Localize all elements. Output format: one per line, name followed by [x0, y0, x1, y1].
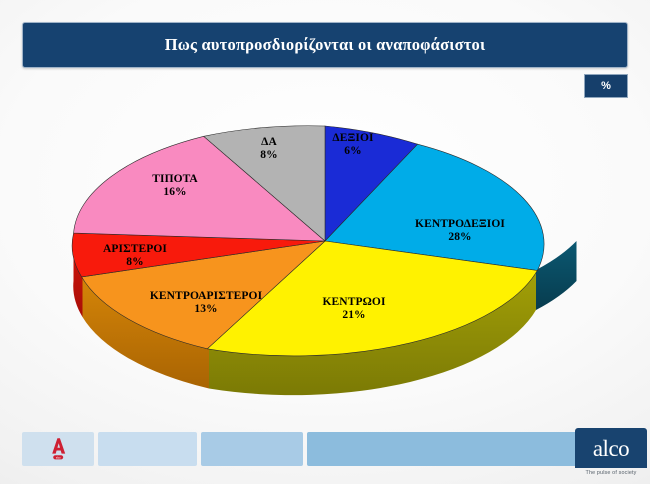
slice-label-aristeroi: ΑΡΙΣΤΕΡΟΙ 8% [82, 229, 188, 283]
slice-label-deksioi: ΔΕΞΙΟΙ 6% [316, 118, 390, 172]
footer-block-3 [201, 432, 303, 466]
slice-label-deksioi-text: ΔΕΞΙΟΙ [332, 132, 373, 144]
slice-label-kentrodeksioi-text: ΚΕΝΤΡΟΔΕΞΙΟΙ [415, 218, 505, 230]
footer-color-strip: alco [22, 432, 628, 466]
slice-label-aristeroi-text: ΑΡΙΣΤΕΡΟΙ [103, 243, 167, 255]
pie-chart: ΔΕΞΙΟΙ 6% ΚΕΝΤΡΟΔΕΞΙΟΙ 28% ΚΕΝΤΡΩΟΙ 21% … [0, 96, 650, 414]
title-banner: Πως αυτοπροσδιορίζονται οι αναποφάσιστοι [22, 22, 628, 68]
unit-badge: % [584, 74, 628, 98]
footer-block-2 [98, 432, 197, 466]
slice-label-da-text: ΔΑ [261, 136, 277, 148]
footer: alco alco The pulse of society [0, 414, 650, 484]
slice-value-kentroaristeroi: 13% [144, 303, 268, 317]
svg-text:alco: alco [56, 455, 61, 459]
slice-value-kentrodeksioi: 28% [398, 231, 522, 245]
slice-label-tipota-text: ΤΙΠΟΤΑ [152, 173, 198, 185]
slice-label-kentrooi-text: ΚΕΝΤΡΩΟΙ [322, 296, 385, 308]
slice-value-tipota: 16% [128, 186, 222, 200]
slice-label-kentrooi: ΚΕΝΤΡΩΟΙ 21% [300, 282, 408, 336]
slice-label-da: ΔΑ 8% [240, 122, 298, 176]
slice-label-kentroaristeroi: ΚΕΝΤΡΟΑΡΙΣΤΕΡΟΙ 13% [144, 276, 268, 330]
alco-logo: alco [575, 428, 647, 468]
alpha-mark-icon: alco [45, 436, 71, 462]
alco-tagline: The pulse of society [575, 470, 647, 476]
unit-badge-label: % [601, 80, 611, 92]
slice-label-tipota: ΤΙΠΟΤΑ 16% [128, 159, 222, 213]
slice-label-kentrodeksioi: ΚΕΝΤΡΟΔΕΞΙΟΙ 28% [398, 204, 522, 258]
slice-value-deksioi: 6% [316, 145, 390, 159]
slide-root: { "slide": { "title": "Πως αυτοπροσδιορί… [0, 0, 650, 484]
slice-label-kentroaristeroi-text: ΚΕΝΤΡΟΑΡΙΣΤΕΡΟΙ [150, 290, 262, 302]
slide-title-bar: Πως αυτοπροσδιορίζονται οι αναποφάσιστοι [22, 22, 628, 68]
footer-mark-block: alco [22, 432, 94, 466]
slice-value-aristeroi: 8% [82, 256, 188, 270]
alco-wordmark: alco [593, 437, 629, 460]
slice-value-da: 8% [240, 149, 298, 163]
page-title: Πως αυτοπροσδιορίζονται οι αναποφάσιστοι [165, 35, 486, 55]
slice-value-kentrooi: 21% [300, 309, 408, 323]
